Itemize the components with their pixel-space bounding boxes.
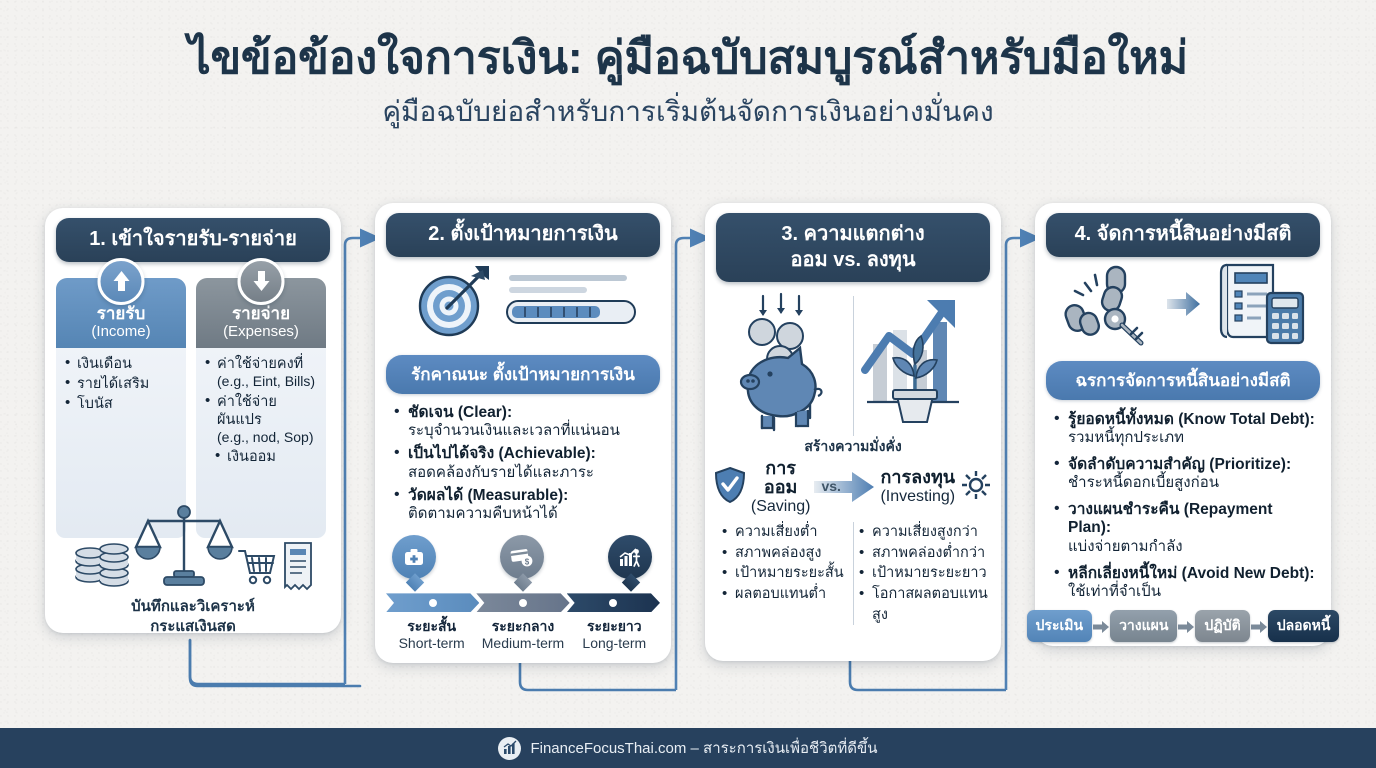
card-saving-vs-investing[interactable]: 3. ความแตกต่าง ออม vs. ลงทุน [705, 203, 1001, 661]
invoice-calculator-icon [1211, 261, 1307, 352]
list-item: วางแผนชำระคืน (Repayment Plan): แบ่งจ่าย… [1054, 501, 1318, 556]
svg-text:$: $ [525, 558, 530, 567]
goal-desc: ระบุจำนวนเงินและเวลาที่แน่นอน [408, 422, 656, 440]
timeline-label-en: Short-term [386, 635, 477, 653]
timeline-label-short: ระยะสั้น Short-term [386, 618, 477, 652]
card-3-header-line2: ออม vs. ลงทุน [722, 248, 984, 274]
card-1-body: รายรับ (Income) เงินเดือน รายได้เสริม โบ… [56, 278, 330, 638]
card-1-header: 1. เข้าใจรายรับ-รายจ่าย [56, 218, 330, 262]
vs-arrow-icon: vs. [814, 470, 876, 504]
list-item: เงินเดือน [65, 355, 180, 373]
arrow-right-icon [1167, 291, 1201, 322]
debt-tips-list: รู้ยอดหนี้ทั้งหมด (Know Total Debt): รวม… [1046, 411, 1320, 601]
timeline-segment-short [386, 593, 479, 612]
shield-check-icon [713, 466, 747, 509]
saving-vs-investing-row: การออม (Saving) vs. การลงทุน (Investing) [716, 460, 990, 514]
goal-lead: เป็นไปได้จริง (Achievable): [408, 445, 596, 462]
list-item: รู้ยอดหนี้ทั้งหมด (Know Total Debt): รวม… [1054, 411, 1318, 447]
debt-illustration [1046, 261, 1320, 353]
goal-illustration [386, 267, 660, 343]
timeline-bar [386, 593, 660, 612]
expense-item-sub: (e.g., nod, Sop) [217, 429, 320, 447]
footer-text: FinanceFocusThai.com – สาระการเงินเพื่อช… [530, 736, 877, 760]
cash-flow-illustration [56, 499, 330, 596]
card-4-pill: ฉรการจัดการหนี้สินอย่างมีสติ [1046, 361, 1320, 400]
timeline-label-th: ระยะสั้น [386, 618, 477, 635]
card-understand-income-expense[interactable]: 1. เข้าใจรายรับ-รายจ่าย รายรับ (Income) … [45, 208, 341, 633]
step-pill-plan[interactable]: วางแผน [1110, 610, 1177, 642]
income-title-th: รายรับ [60, 304, 182, 323]
broken-chain-key-icon [1059, 261, 1157, 352]
debt-desc: แบ่งจ่ายตามกำลัง [1068, 538, 1318, 556]
list-item: จัดลำดับความสำคัญ (Prioritize): ชำระหนี้… [1054, 456, 1318, 492]
timeline-label-en: Long-term [569, 635, 660, 653]
card-manage-debt[interactable]: 4. จัดการหนี้สินอย่างมีสติ [1035, 203, 1331, 646]
gear-icon [959, 468, 993, 507]
goal-desc: ติดตามความคืบหน้าได้ [408, 505, 656, 523]
step-pill-assess[interactable]: ประเมิน [1027, 610, 1093, 642]
card-2-header: 2. ตั้งเป้าหมายการเงิน [386, 213, 660, 257]
timeline-label-long: ระยะยาว Long-term [569, 618, 660, 652]
timeline-label-th: ระยะกลาง [477, 618, 568, 635]
saving-column: ความเสี่ยงต่ำ สภาพคล่องสูง เป้าหมายระยะส… [716, 522, 853, 625]
debt-lead: หลีกเลี่ยงหนี้ใหม่ (Avoid New Debt): [1068, 565, 1315, 582]
debt-lead: วางแผนชำระคืน (Repayment Plan): [1068, 501, 1273, 536]
cash-flow-caption-line2: กระแสเงินสด [56, 618, 330, 636]
timeline-label-th: ระยะยาว [569, 618, 660, 635]
list-item: หลีกเลี่ยงหนี้ใหม่ (Avoid New Debt): ใช้… [1054, 565, 1318, 601]
list-item: เงินออม [205, 448, 320, 466]
card-set-financial-goals[interactable]: 2. ตั้งเป้าหมายการเงิน [375, 203, 671, 663]
expense-title-en: (Expenses) [200, 323, 322, 340]
saving-title-th: การออม [751, 459, 811, 499]
page-title: ไขข้อข้องใจการเงิน: คู่มือฉบับสมบูรณ์สำห… [0, 30, 1376, 86]
card-2-pill: รักคาณนะ ตั้งเป้าหมายการเงิน [386, 355, 660, 394]
timeline-segment-medium [476, 593, 569, 612]
timeline-label-en: Medium-term [477, 635, 568, 653]
debt-desc: ชำระหนี้ดอกเบี้ยสูงก่อน [1068, 474, 1318, 492]
page-footer: FinanceFocusThai.com – สาระการเงินเพื่อช… [0, 728, 1376, 768]
coin-stack-icon [70, 531, 132, 596]
progress-bar-icon [505, 269, 637, 340]
piggy-bank-icon [718, 292, 853, 442]
list-item: สภาพคล่องต่ำกว่า [859, 543, 988, 564]
step-arrow-icon [1251, 620, 1267, 632]
arrow-up-icon [98, 258, 145, 305]
goal-timeline: $ [386, 535, 660, 631]
card-4-header: 4. จัดการหนี้สินอย่างมีสติ [1046, 213, 1320, 257]
timeline-pins: $ [386, 535, 660, 585]
balance-scale-icon [134, 499, 234, 596]
goal-lead: วัดผลได้ (Measurable): [408, 487, 568, 504]
income-title-en: (Income) [60, 323, 182, 340]
saving-title-en: (Saving) [751, 498, 811, 516]
list-item: สภาพคล่องสูง [722, 543, 851, 564]
saving-investing-illustration: สร้างความมั่งคั่ง [716, 288, 990, 456]
timeline-segment-long [567, 593, 660, 612]
list-item: โอกาสผลตอบแทนสูง [859, 584, 988, 625]
goal-desc: สอดคล้องกับรายได้และภาระ [408, 464, 656, 482]
debt-steps: ประเมิน วางแผน ปฏิบัติ ปลอดหนี้ [1046, 610, 1320, 642]
arrow-down-icon [238, 258, 285, 305]
shopping-cart-icon [236, 543, 278, 596]
goal-criteria-list: ชัดเจน (Clear): ระบุจำนวนเงินและเวลาที่แ… [386, 404, 660, 524]
vs-text: vs. [821, 478, 840, 494]
chart-logo-icon [498, 737, 521, 760]
debt-lead: จัดลำดับความสำคัญ (Prioritize): [1068, 456, 1291, 473]
list-item: เป้าหมายระยะสั้น [722, 563, 851, 584]
debt-desc: รวมหนี้ทุกประเภท [1068, 429, 1318, 447]
expense-item-sub: (e.g., Eint, Bills) [217, 373, 320, 391]
list-item: ความเสี่ยงต่ำ [722, 522, 851, 543]
timeline-pin-short [392, 535, 438, 585]
list-item: ผลตอบแทนต่ำ [722, 584, 851, 605]
cash-flow-illustration-block: บันทึกและวิเคราะห์ กระแสเงินสด [56, 499, 330, 636]
list-item: ความเสี่ยงสูงกว่า [859, 522, 988, 543]
receipt-icon [280, 539, 316, 596]
card-3-header: 3. ความแตกต่าง ออม vs. ลงทุน [716, 213, 990, 282]
saving-investing-columns: ความเสี่ยงต่ำ สภาพคล่องสูง เป้าหมายระยะส… [716, 522, 990, 625]
timeline-pin-long [608, 535, 654, 585]
list-item: โบนัส [65, 395, 180, 413]
expense-title-th: รายจ่าย [200, 304, 322, 323]
expense-item-main: ค่าใช้จ่ายคงที่ [217, 356, 303, 372]
saving-label: การออม (Saving) [751, 459, 811, 516]
expense-item-main: ค่าใช้จ่ายผันแปร [217, 394, 277, 428]
goal-lead: ชัดเจน (Clear): [408, 404, 512, 421]
debt-lead: รู้ยอดหนี้ทั้งหมด (Know Total Debt): [1068, 411, 1315, 428]
growth-caption: สร้างความมั่งคั่ง [716, 436, 990, 458]
investing-label: การลงทุน (Investing) [880, 468, 955, 505]
list-item: รายได้เสริม [65, 375, 180, 393]
investing-title-en: (Investing) [880, 488, 955, 506]
page-subtitle: คู่มือฉบับย่อสำหรับการเริ่มต้นจัดการเงิน… [0, 94, 1376, 130]
list-item: เป็นไปได้จริง (Achievable): สอดคล้องกับร… [394, 445, 656, 482]
list-item: ค่าใช้จ่ายคงที่ (e.g., Eint, Bills) [205, 355, 320, 391]
debt-desc: ใช้เท่าที่จำเป็น [1068, 583, 1318, 601]
list-item: ค่าใช้จ่ายผันแปร (e.g., nod, Sop) [205, 393, 320, 447]
step-arrow-icon [1093, 620, 1109, 632]
investing-column: ความเสี่ยงสูงกว่า สภาพคล่องต่ำกว่า เป้าห… [853, 522, 990, 625]
step-arrow-icon [1178, 620, 1194, 632]
list-item: ชัดเจน (Clear): ระบุจำนวนเงินและเวลาที่แ… [394, 404, 656, 441]
timeline-label-medium: ระยะกลาง Medium-term [477, 618, 568, 652]
growth-arrow-chart-icon [853, 292, 988, 442]
timeline-pin-medium: $ [500, 535, 546, 585]
investing-title-th: การลงทุน [880, 468, 955, 488]
cash-flow-caption-line1: บันทึกและวิเคราะห์ [56, 598, 330, 616]
step-pill-debt-free[interactable]: ปลอดหนี้ [1268, 610, 1340, 642]
card-3-header-line1: 3. ความแตกต่าง [722, 222, 984, 248]
step-pill-execute[interactable]: ปฏิบัติ [1195, 610, 1249, 642]
timeline-labels: ระยะสั้น Short-term ระยะกลาง Medium-term… [386, 618, 660, 652]
target-bullseye-icon [409, 264, 497, 345]
list-item: เป้าหมายระยะยาว [859, 563, 988, 584]
page-header: ไขข้อข้องใจการเงิน: คู่มือฉบับสมบูรณ์สำห… [0, 0, 1376, 131]
list-item: วัดผลได้ (Measurable): ติดตามความคืบหน้า… [394, 487, 656, 524]
